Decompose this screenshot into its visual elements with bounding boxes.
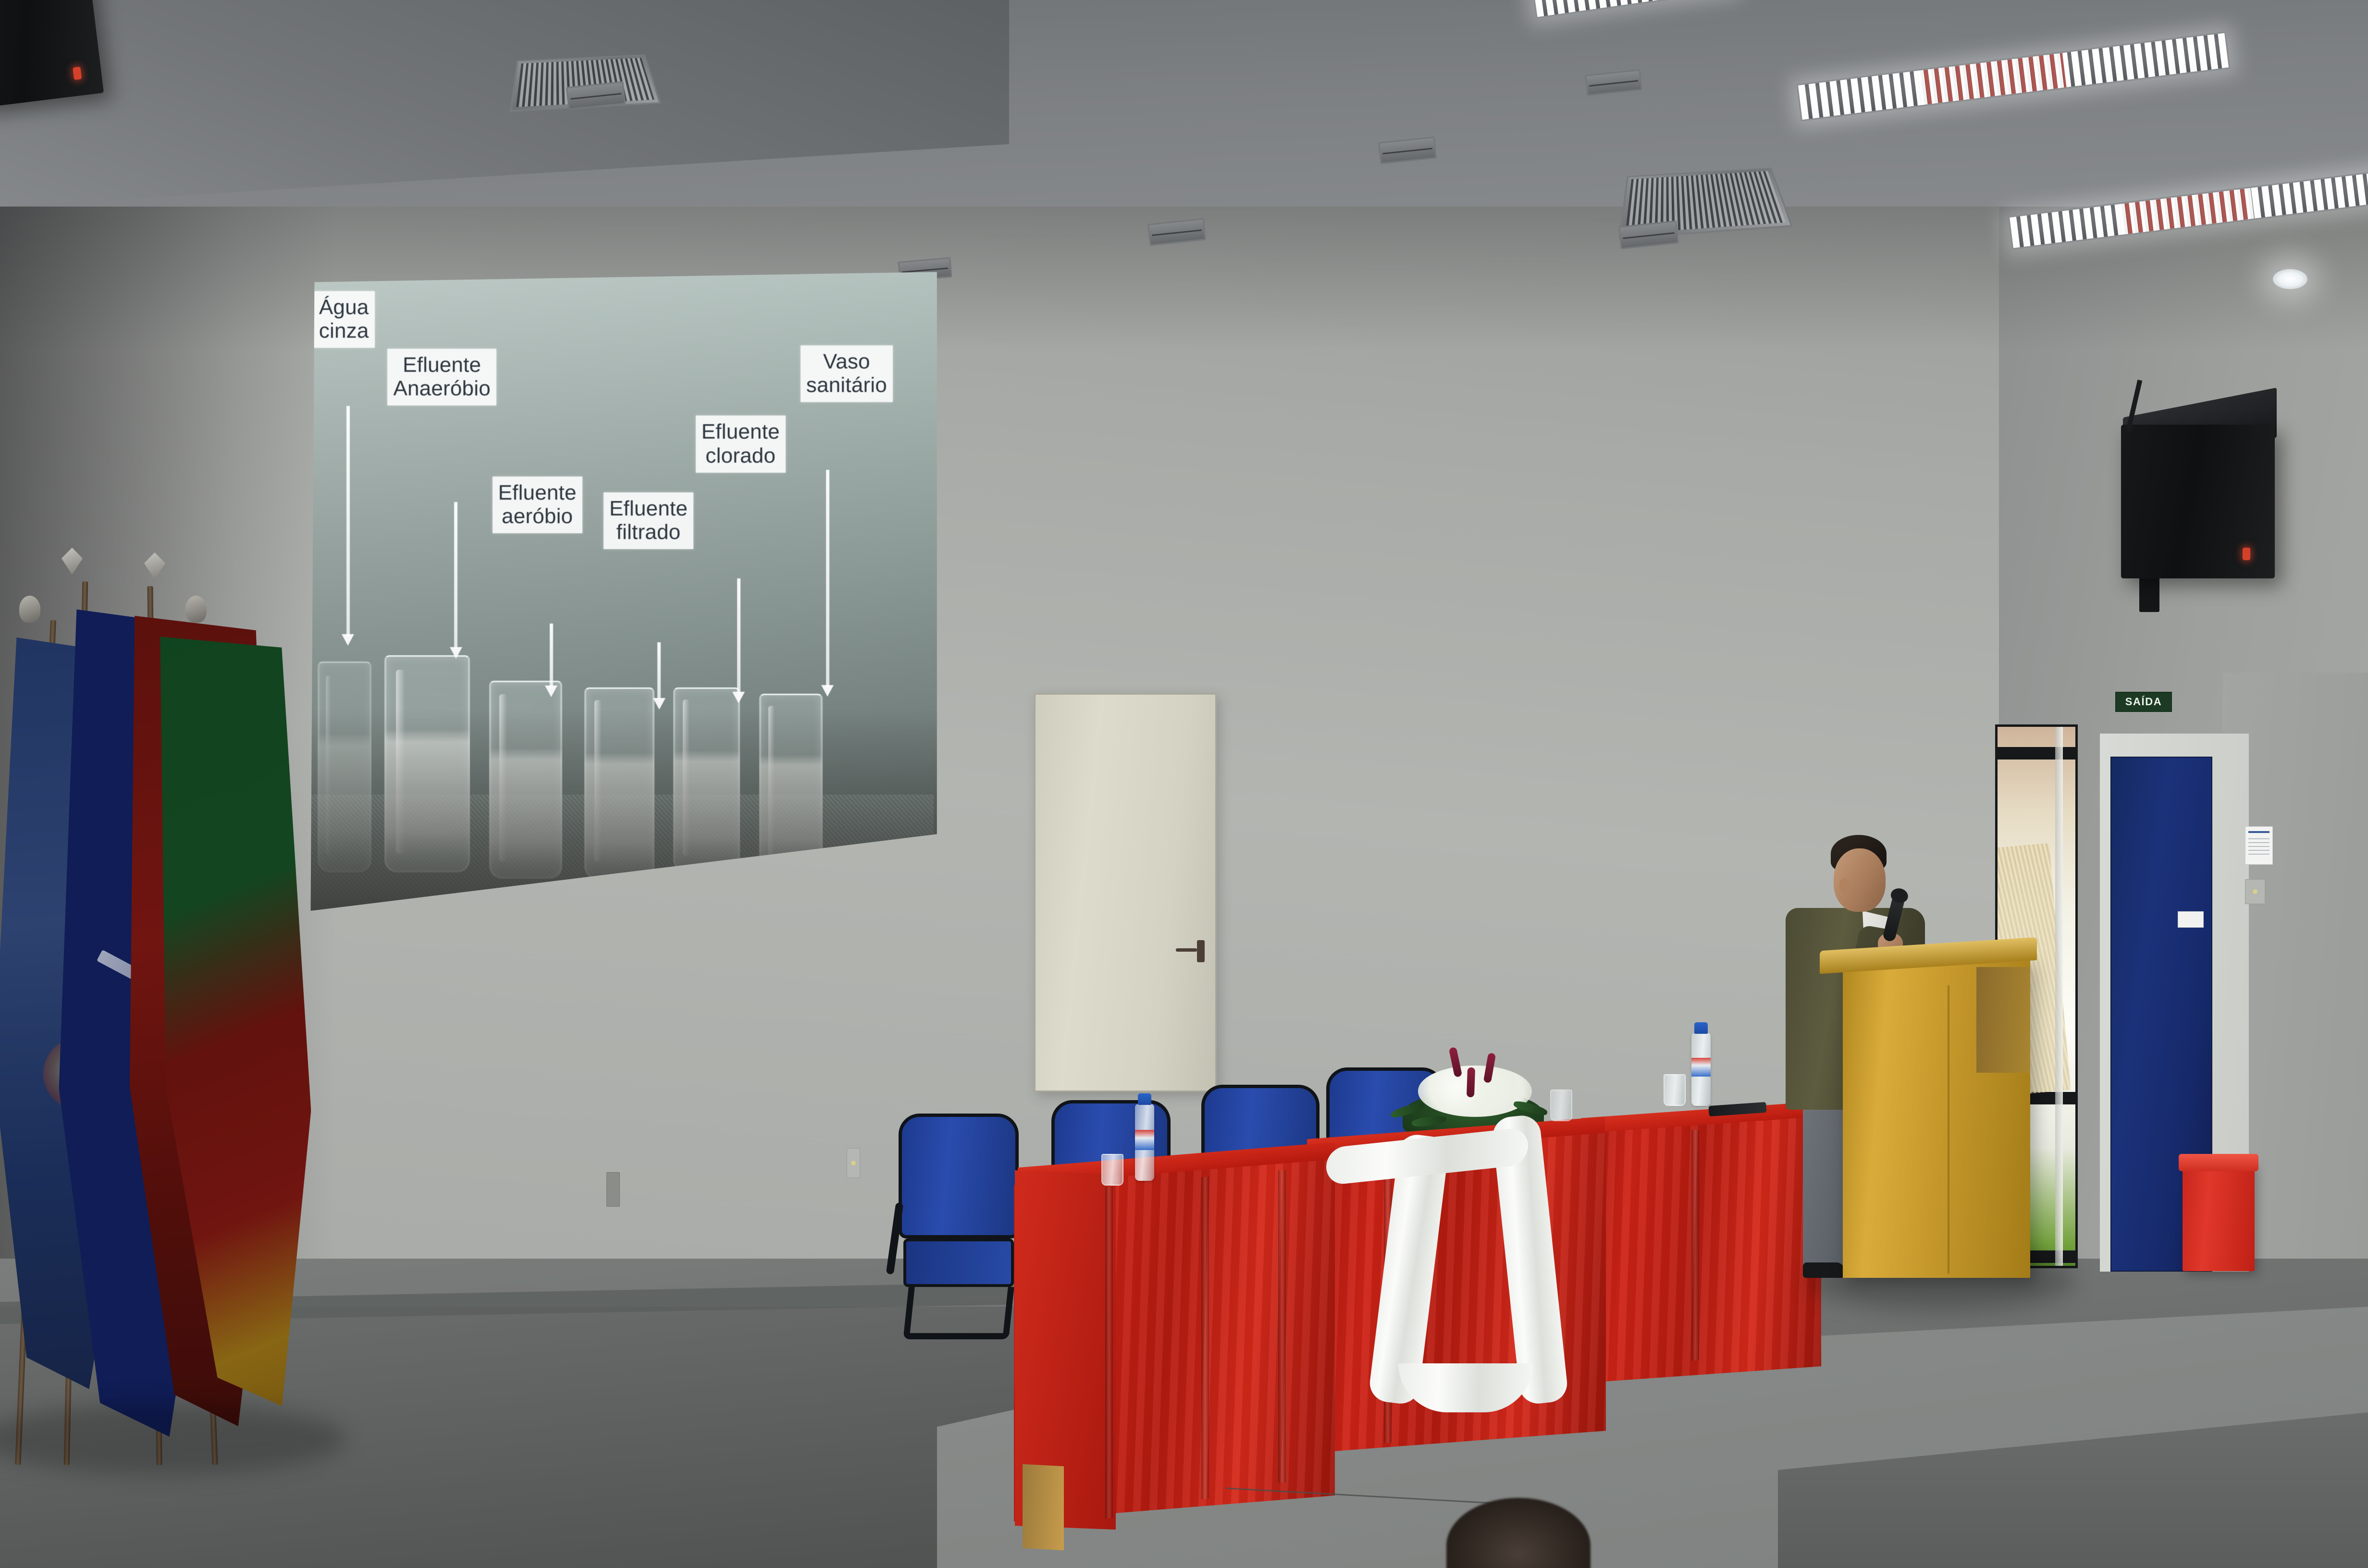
slide-label-efluente-aerobio: Efluente aeróbio <box>493 477 582 534</box>
beaker-efluente-clorado <box>673 687 740 873</box>
podium-side-panel <box>1976 967 2030 1073</box>
speaker-led-icon <box>2243 548 2250 560</box>
notice-line <box>2248 846 2269 847</box>
chair-1[interactable] <box>899 1114 1019 1315</box>
arrow-to-efluente-clorado <box>737 578 740 693</box>
drinking-glass[interactable] <box>1664 1074 1686 1106</box>
chair-back <box>899 1114 1019 1238</box>
slide-label-efluente-clorado: Efluente clorado <box>696 416 786 473</box>
beaker-efluente-filtrado <box>584 687 654 879</box>
center-door[interactable] <box>1034 693 1217 1092</box>
auditorium-scene: Água cinza Efluente Anaeróbio Efluente a… <box>0 0 2368 1568</box>
notice-line <box>2248 850 2269 851</box>
presenter-shoe <box>1803 1262 1844 1278</box>
arrow-to-vaso-sanitario <box>826 470 829 687</box>
arrow-to-efluente-aerobio <box>550 624 553 687</box>
water-bottle[interactable] <box>1135 1104 1154 1181</box>
light-switch[interactable] <box>847 1148 860 1178</box>
wall-notice <box>2245 826 2273 865</box>
chair-seat <box>903 1238 1014 1287</box>
notice-line <box>2248 854 2269 855</box>
trash-bin-lid[interactable] <box>2179 1154 2258 1171</box>
projected-slide: Água cinza Efluente Anaeróbio Efluente a… <box>302 272 937 911</box>
wall-speaker <box>2121 425 2275 578</box>
centerpiece-burgundy-spike <box>1467 1067 1475 1098</box>
presenter-ear <box>1839 878 1850 893</box>
wall-speaker <box>0 0 104 108</box>
arrow-to-agua-cinza <box>346 406 350 636</box>
slide-label-efluente-filtrado: Efluente filtrado <box>604 492 693 550</box>
exit-sign: SAÍDA <box>2115 692 2172 712</box>
cloth-fold <box>1105 1186 1113 1518</box>
slide-label-efluente-anaerobio: Efluente Anaeróbio <box>387 349 496 406</box>
flag-finial <box>185 596 207 623</box>
beaker-efluente-anaerobio <box>384 655 470 872</box>
projection-screen-area: Água cinza Efluente Anaeróbio Efluente a… <box>302 272 937 911</box>
bottle-label <box>1691 1058 1711 1077</box>
door-handle-icon[interactable] <box>1197 940 1205 962</box>
arrow-to-efluente-anaerobio <box>454 502 457 649</box>
cloth-fold <box>1201 1176 1209 1499</box>
door-mullion <box>1998 747 2075 759</box>
cloth-fold <box>1278 1170 1286 1482</box>
speaker-led-icon <box>73 67 82 80</box>
recessed-downlight <box>2273 269 2307 289</box>
wall-outlet[interactable] <box>606 1172 620 1207</box>
podium <box>1843 958 2030 1278</box>
arrow-to-efluente-filtrado <box>657 642 661 700</box>
cloth-fold <box>1691 1129 1699 1360</box>
table-leg <box>1023 1464 1064 1551</box>
flag-finial <box>19 596 40 623</box>
slide-label-vaso-sanitario: Vaso sanitário <box>801 345 893 403</box>
door-sign <box>2178 911 2204 928</box>
notice-title-line <box>2248 831 2269 833</box>
notice-line <box>2248 838 2269 839</box>
drinking-glass[interactable] <box>1101 1154 1123 1186</box>
beaker-vaso-sanitario <box>759 694 823 872</box>
notice-line <box>2248 842 2269 843</box>
light-switch[interactable] <box>2245 879 2265 904</box>
door-post <box>2055 727 2063 1266</box>
podium-seam <box>1948 985 1949 1274</box>
bottle-cap <box>1694 1022 1708 1034</box>
bottle-cap <box>1138 1093 1151 1105</box>
bottle-label <box>1135 1130 1154 1150</box>
drinking-glass[interactable] <box>1550 1090 1572 1121</box>
beaker-efluente-aerobio <box>489 681 562 879</box>
exit-sign-label: SAÍDA <box>2125 696 2162 708</box>
slide-label-agua-cinza: Água cinza <box>313 291 375 348</box>
beaker-agua-cinza <box>318 661 371 872</box>
chair-base <box>903 1287 1014 1339</box>
water-bottle[interactable] <box>1691 1033 1711 1106</box>
trash-bin[interactable] <box>2183 1162 2255 1271</box>
